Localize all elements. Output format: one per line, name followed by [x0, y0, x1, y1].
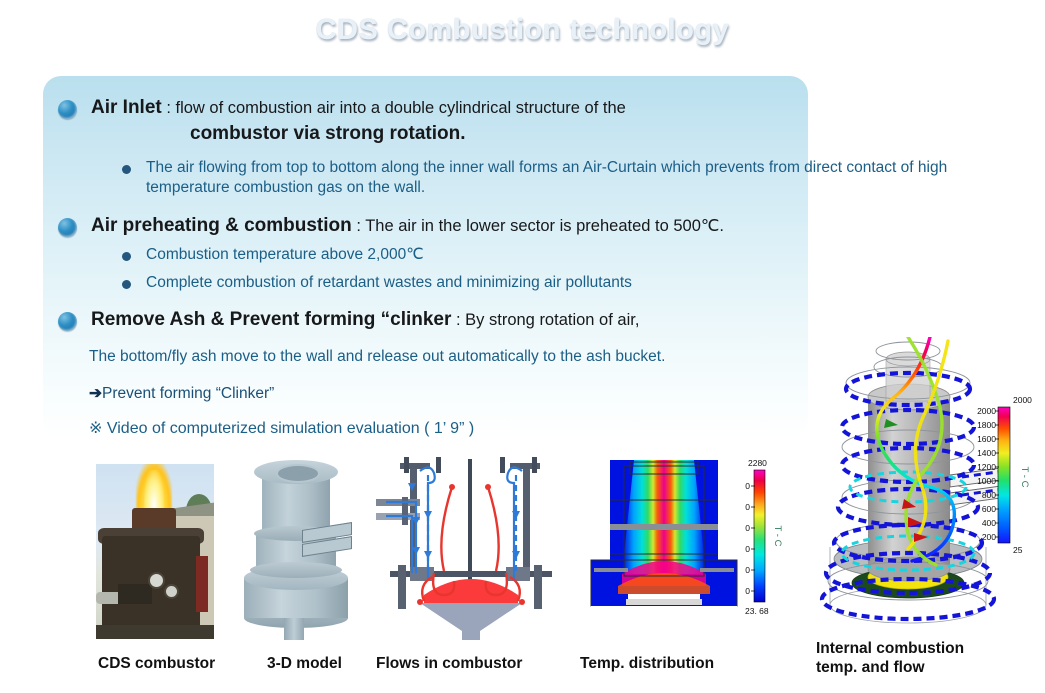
temp-cb-tick: 0	[745, 565, 750, 575]
subitem-complete-combustion: Complete combustion of retardant wastes …	[122, 273, 922, 293]
caption-cds-combustor: CDS combustor	[98, 655, 215, 674]
caption-flows-in-combustor: Flows in combustor	[376, 655, 522, 674]
sim-cb-axis-label: T - C	[1019, 467, 1030, 488]
bullet-dot-icon	[58, 312, 77, 331]
sim-cb-tick: 1000	[977, 476, 996, 486]
bullet-remove-ash-rest: : By strong rotation of air,	[451, 311, 639, 329]
slide-root: CDS Combustion technology Air Inlet : fl…	[0, 0, 1045, 693]
temp-cb-tick: 0	[745, 502, 750, 512]
sim-cb-tick: 1400	[977, 448, 996, 458]
sim-cb-tick: 2000	[977, 406, 996, 416]
prevent-clinker-text: Prevent forming “Clinker”	[102, 385, 274, 402]
bullet-air-inlet: Air Inlet : flow of combustion air into …	[58, 97, 958, 145]
sim-cb-tick: 1200	[977, 462, 996, 472]
flows-svg	[376, 455, 566, 640]
temp-cb-axis-label: T - C	[772, 526, 783, 547]
bullet-air-inlet-heading: Air Inlet	[91, 97, 162, 118]
prevent-clinker-line: ➔Prevent forming “Clinker”	[89, 384, 274, 403]
subitem-air-curtain-text: The air flowing from top to bottom along…	[146, 158, 990, 199]
photo-red-frame	[196, 556, 208, 612]
bullet-air-preheating-text: Air preheating & combustion : The air in…	[91, 215, 724, 237]
temp-cb-tick: 0	[745, 481, 750, 491]
model-ring-lower	[250, 562, 342, 578]
reference-mark-icon: ※	[89, 420, 102, 437]
image-3d-model	[232, 462, 360, 640]
sim-cb-max: 2000	[1013, 395, 1032, 405]
sim-cb-tick: 600	[982, 504, 996, 514]
temp-cb-min: 23. 68	[745, 606, 769, 616]
bullet-dot-icon	[58, 100, 77, 119]
subitem-combustion-temperature-text: Combustion temperature above 2,000℃	[146, 245, 424, 265]
image-flows-in-combustor	[376, 455, 566, 640]
sub-bullet-dot-icon	[122, 165, 131, 174]
sim-cb-tick: 400	[982, 518, 996, 528]
simulation-svg: 2000 25 2000 1800 1600 1400 1200 1000 80…	[812, 337, 1040, 635]
page-title: CDS Combustion technology	[0, 14, 1045, 47]
sim-cb-tick: 1600	[977, 434, 996, 444]
temp-cb-max: 2280	[748, 458, 767, 468]
temp-cb-tick: 0	[745, 544, 750, 554]
caption-simulation-line2: temp. and flow	[816, 659, 964, 678]
caption-simulation: Internal combustion temp. and flow	[816, 640, 964, 678]
bullet-air-inlet-continuation: combustor via strong rotation.	[190, 123, 626, 145]
ash-removal-note: The bottom/fly ash move to the wall and …	[89, 348, 789, 366]
bullet-remove-ash: Remove Ash & Prevent forming “clinker : …	[58, 309, 958, 331]
model-top-opening	[276, 464, 320, 483]
sub-bullet-dot-icon	[122, 280, 131, 289]
bullet-dot-icon	[58, 218, 77, 237]
bullet-air-preheating-heading: Air preheating & combustion	[91, 215, 352, 236]
arrow-right-icon: ➔	[89, 385, 102, 402]
photo-ground	[96, 625, 214, 639]
temp-cb-tick: 0	[745, 586, 750, 596]
caption-3d-model: 3-D model	[267, 655, 342, 674]
temp-distribution-svg: 2280 23. 68 0 0 0 0 0 0 T - C	[588, 456, 783, 631]
caption-simulation-line1: Internal combustion	[816, 640, 964, 659]
sim-cb-min: 25	[1013, 545, 1023, 555]
sub-bullet-dot-icon	[122, 252, 131, 261]
sim-cb-tick: 1800	[977, 420, 996, 430]
bullet-air-preheating: Air preheating & combustion : The air in…	[58, 215, 958, 237]
subitem-air-curtain: The air flowing from top to bottom along…	[122, 158, 990, 199]
bullet-air-inlet-text: Air Inlet : flow of combustion air into …	[91, 97, 626, 145]
sim-cb-tick: 200	[982, 532, 996, 542]
photo-cds-combustor	[96, 464, 214, 639]
subitem-combustion-temperature: Combustion temperature above 2,000℃	[122, 245, 922, 265]
bullet-remove-ash-heading: Remove Ash & Prevent forming “clinker	[91, 309, 451, 330]
subitem-complete-combustion-text: Complete combustion of retardant wastes …	[146, 273, 632, 293]
image-internal-combustion-simulation: 2000 25 2000 1800 1600 1400 1200 1000 80…	[812, 337, 1040, 635]
video-notice-line: ※ Video of computerized simulation evalu…	[89, 418, 474, 438]
temp-cb-tick: 0	[745, 523, 750, 533]
bullet-air-preheating-rest: : The air in the lower sector is preheat…	[352, 217, 724, 235]
bullet-air-inlet-rest: : flow of combustion air into a double c…	[162, 99, 626, 117]
caption-temp-distribution: Temp. distribution	[580, 655, 714, 674]
video-notice-text: Video of computerized simulation evaluat…	[107, 420, 474, 437]
photo-gauge-small	[164, 584, 179, 599]
model-ash-spout	[284, 618, 304, 640]
image-temp-distribution: 2280 23. 68 0 0 0 0 0 0 T - C	[588, 456, 783, 631]
bullet-remove-ash-text: Remove Ash & Prevent forming “clinker : …	[91, 309, 639, 331]
photo-gauge-large	[148, 572, 165, 589]
photo-access-door	[118, 584, 152, 604]
sim-cb-tick: 800	[982, 490, 996, 500]
